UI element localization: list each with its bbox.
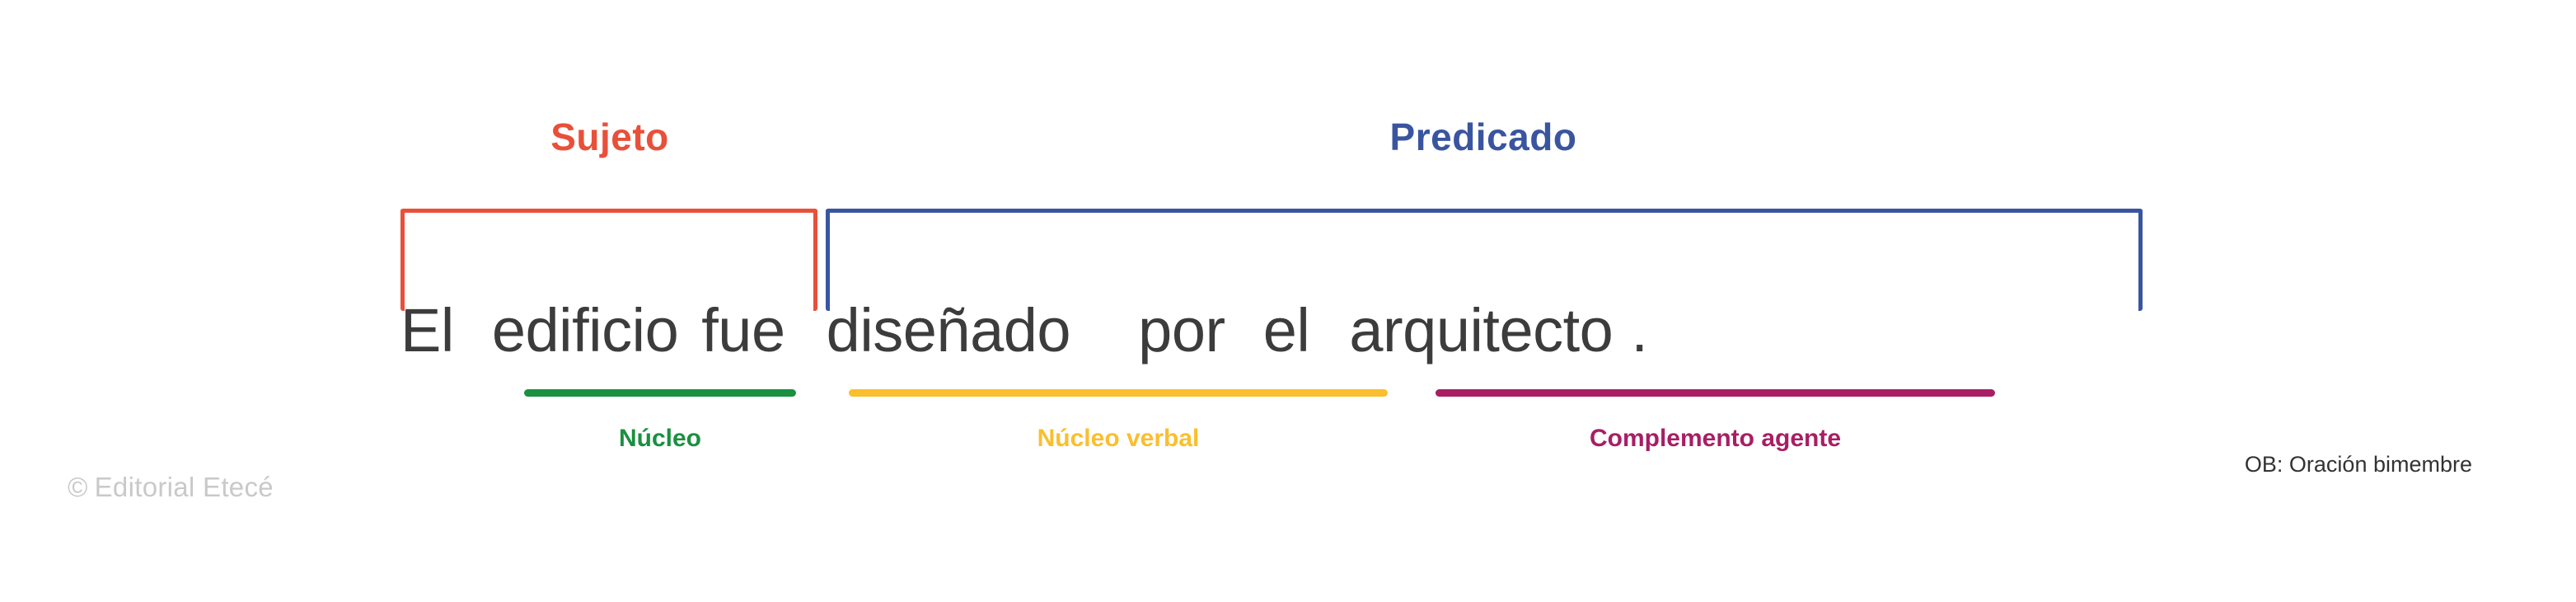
word-disenado: diseñado [827,295,1070,365]
sentence-type-note: OB: Oración bimembre [1994,452,2472,477]
sentence-segment-sujeto: El edificio [400,295,678,365]
watermark: ©Editorial Etecé [68,472,274,503]
word-por: por [1138,295,1225,365]
copyright-icon: © [68,472,88,502]
underline-nucleo [524,389,796,397]
function-label-nucleo: Núcleo [524,425,796,453]
sentence-period: . [1631,295,1647,365]
word-fue: fue [701,295,785,365]
word-el-determiner: El [400,295,454,365]
syntax-diagram-canvas: Sujeto Predicado El edificio fue diseñad… [0,0,2576,602]
sentence-segment-predicado: fue diseñado por el arquitecto [701,295,1613,365]
watermark-text: Editorial Etecé [95,472,274,502]
underline-nucleo-verbal [849,389,1388,397]
constituent-label-sujeto: Sujeto [445,115,775,159]
function-label-complemento-agente: Complemento agente [1436,425,1995,453]
underline-complemento-agente [1436,389,1995,397]
word-el-determiner-2: el [1263,295,1310,365]
sentence-text: El edificio fue diseñado por el arquitec… [400,295,1647,378]
word-edificio: edificio [492,295,678,365]
word-arquitecto: arquitecto [1349,295,1613,365]
function-label-nucleo-verbal: Núcleo verbal [849,425,1388,453]
constituent-label-predicado: Predicado [1286,115,1681,159]
